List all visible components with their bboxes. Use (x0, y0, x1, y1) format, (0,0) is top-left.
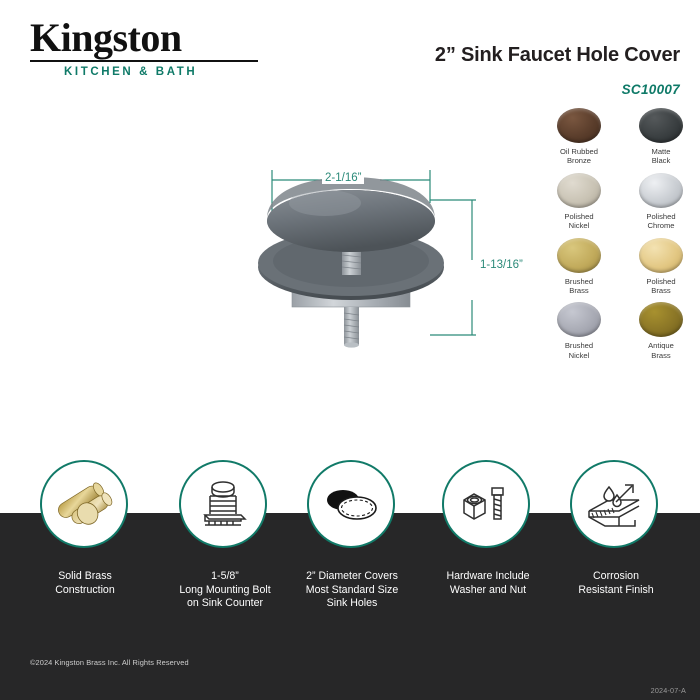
mounting-bolt (344, 307, 359, 348)
caption-line2: Washer and Nut (450, 584, 526, 596)
finish-option[interactable]: Antique Brass (622, 302, 700, 360)
finish-swatch-icon (557, 173, 601, 208)
copyright-text: ©2024 Kingston Brass Inc. All Rights Res… (30, 658, 189, 667)
spec-sheet: Kingston KITCHEN & BATH 2” Sink Faucet H… (0, 0, 700, 700)
feature-circle (40, 460, 128, 548)
finish-swatch-grid: Oil Rubbed Bronze Matte Black Polished N… (540, 108, 700, 360)
feature-caption-solid-brass: Solid Brass Construction (10, 570, 160, 597)
finish-label-line2: Brass (651, 286, 670, 295)
finish-label-line2: Bronze (567, 156, 591, 165)
finish-label-line2: Brass (651, 351, 670, 360)
feature-circle (179, 460, 267, 548)
caption-line1: 1-5/8” (211, 570, 239, 582)
feature-circle (442, 460, 530, 548)
caption-line2: Long Mounting Bolt (179, 584, 270, 596)
mounting-bolt-icon (193, 474, 253, 534)
feature-item-sink-hole[interactable] (307, 460, 399, 552)
page-title: 2” Sink Faucet Hole Cover (435, 44, 680, 67)
finish-label-line2: Nickel (569, 351, 590, 360)
sink-hole-icon (319, 479, 383, 529)
brand-tagline: KITCHEN & BATH (30, 66, 330, 78)
finish-label-line1: Polished (564, 212, 593, 221)
finish-swatch-icon (639, 108, 683, 143)
dome-specular (289, 190, 361, 216)
feature-caption-sink-hole: 2” Diameter Covers Most Standard Size Si… (277, 570, 427, 611)
finish-swatch-icon (557, 108, 601, 143)
finish-swatch-icon (639, 238, 683, 273)
feature-item-corrosion[interactable] (570, 460, 662, 552)
logo-divider (30, 60, 258, 62)
finish-label-line1: Polished (646, 212, 675, 221)
finish-label: Polished Chrome (646, 212, 675, 231)
finish-label: Antique Brass (648, 341, 674, 360)
brand-logo: Kingston KITCHEN & BATH (30, 18, 330, 78)
caption-line1: Hardware Include (446, 570, 529, 582)
finish-option[interactable]: Polished Brass (622, 238, 700, 296)
finish-option[interactable]: Brushed Nickel (540, 302, 618, 360)
finish-label: Polished Brass (646, 277, 675, 296)
finish-label-line1: Oil Rubbed (560, 147, 598, 156)
finish-label-line2: Chrome (647, 221, 674, 230)
finish-swatch-icon (557, 238, 601, 273)
caption-line2: Construction (55, 584, 114, 596)
feature-caption-corrosion: Corrosion Resistant Finish (541, 570, 691, 597)
caption-line1: Solid Brass (58, 570, 112, 582)
feature-item-mounting-bolt[interactable] (179, 460, 271, 552)
finish-label-line1: Antique (648, 341, 674, 350)
finish-label: Matte Black (652, 147, 671, 166)
feature-circle (307, 460, 395, 548)
product-diagram: 2-1/16” 1-13/16” (230, 155, 520, 370)
finish-option[interactable]: Oil Rubbed Bronze (540, 108, 618, 166)
finish-label: Oil Rubbed Bronze (560, 147, 598, 166)
finish-label-line1: Matte (652, 147, 671, 156)
finish-option[interactable]: Polished Chrome (622, 173, 700, 231)
finish-label-line1: Polished (646, 277, 675, 286)
finish-option[interactable]: Matte Black (622, 108, 700, 166)
finish-option[interactable]: Polished Nickel (540, 173, 618, 231)
brand-name: Kingston (30, 18, 330, 58)
caption-line3: on Sink Counter (187, 597, 263, 609)
finish-label-line2: Brass (569, 286, 588, 295)
brass-rods-icon (52, 472, 116, 536)
finish-label-line2: Nickel (569, 221, 590, 230)
finish-label-line1: Brushed (565, 341, 593, 350)
revision-code: 2024-07-A (651, 686, 686, 695)
finish-swatch-icon (639, 302, 683, 337)
finish-label: Brushed Nickel (565, 341, 593, 360)
width-dimension-label: 2-1/16” (322, 172, 364, 184)
finish-swatch-icon (639, 173, 683, 208)
finish-label: Brushed Brass (565, 277, 593, 296)
feature-item-hardware[interactable] (442, 460, 534, 552)
finish-option[interactable]: Brushed Brass (540, 238, 618, 296)
corrosion-plate-icon (583, 475, 645, 533)
caption-line1: Corrosion (593, 570, 639, 582)
nut-bolt-icon (456, 474, 516, 534)
finish-label: Polished Nickel (564, 212, 593, 231)
height-dimension-label: 1-13/16” (477, 259, 526, 271)
sku-code: SC10007 (622, 82, 680, 97)
finish-label-line1: Brushed (565, 277, 593, 286)
caption-line2: Resistant Finish (578, 584, 653, 596)
caption-line2: Most Standard Size (306, 584, 398, 596)
feature-item-solid-brass[interactable] (40, 460, 132, 552)
finish-label-line2: Black (652, 156, 671, 165)
caption-line1: 2” Diameter Covers (306, 570, 398, 582)
finish-swatch-icon (557, 302, 601, 337)
feature-circle (570, 460, 658, 548)
caption-line3: Sink Holes (327, 597, 378, 609)
